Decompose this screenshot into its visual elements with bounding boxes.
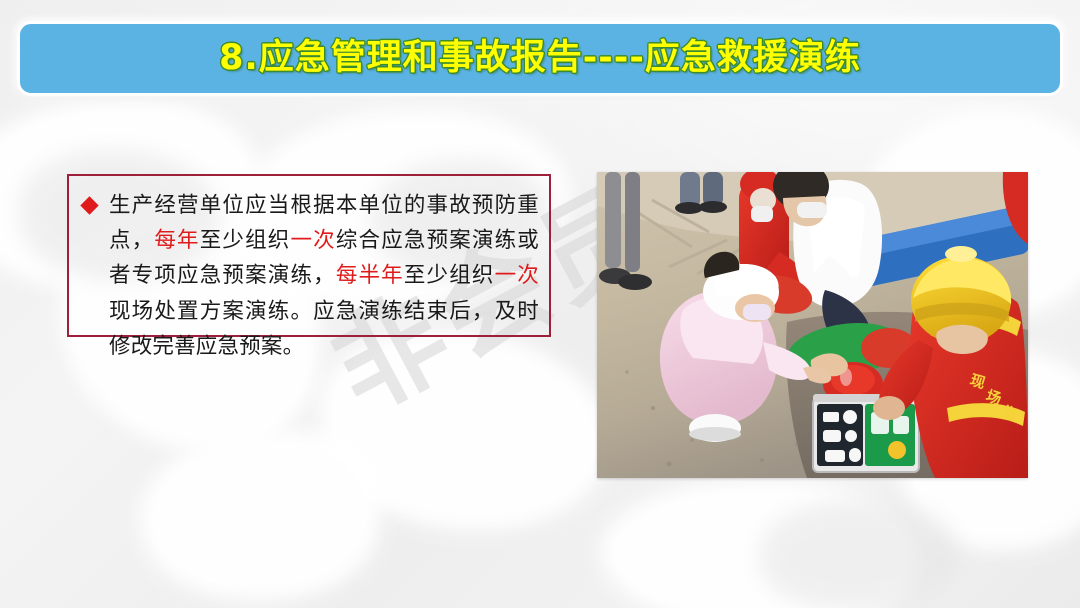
body-text-run: 至少组织 — [200, 228, 291, 253]
diamond-bullet-icon — [80, 196, 98, 214]
title-banner: 8.应急管理和事故报告----应急救援演练 — [17, 21, 1063, 96]
highlight-text-run: 每年 — [154, 228, 199, 253]
highlight-text-run: 每半年 — [336, 263, 404, 288]
body-text-run: 至少组织 — [404, 263, 495, 288]
rescue-drill-photo: 现 场 指 — [597, 172, 1028, 478]
content-text-card: 生产经营单位应当根据本单位的事故预防重点，每年至少组织一次综合应急预案演练或者专… — [67, 174, 551, 337]
body-text-run: 现场处置方案演练。应急演练结束后，及时修改完善应急预案。 — [109, 299, 539, 359]
highlight-text-run: 一次 — [290, 228, 335, 253]
slide-canvas: 非会员 8.应急管理和事故报告----应急救援演练 生产经营单位应当根据本单位的… — [0, 0, 1080, 608]
bullet-row: 生产经营单位应当根据本单位的事故预防重点，每年至少组织一次综合应急预案演练或者专… — [81, 188, 539, 364]
body-paragraph: 生产经营单位应当根据本单位的事故预防重点，每年至少组织一次综合应急预案演练或者专… — [109, 188, 539, 364]
highlight-text-run: 一次 — [495, 263, 539, 288]
page-title: 8.应急管理和事故报告----应急救援演练 — [219, 41, 861, 76]
